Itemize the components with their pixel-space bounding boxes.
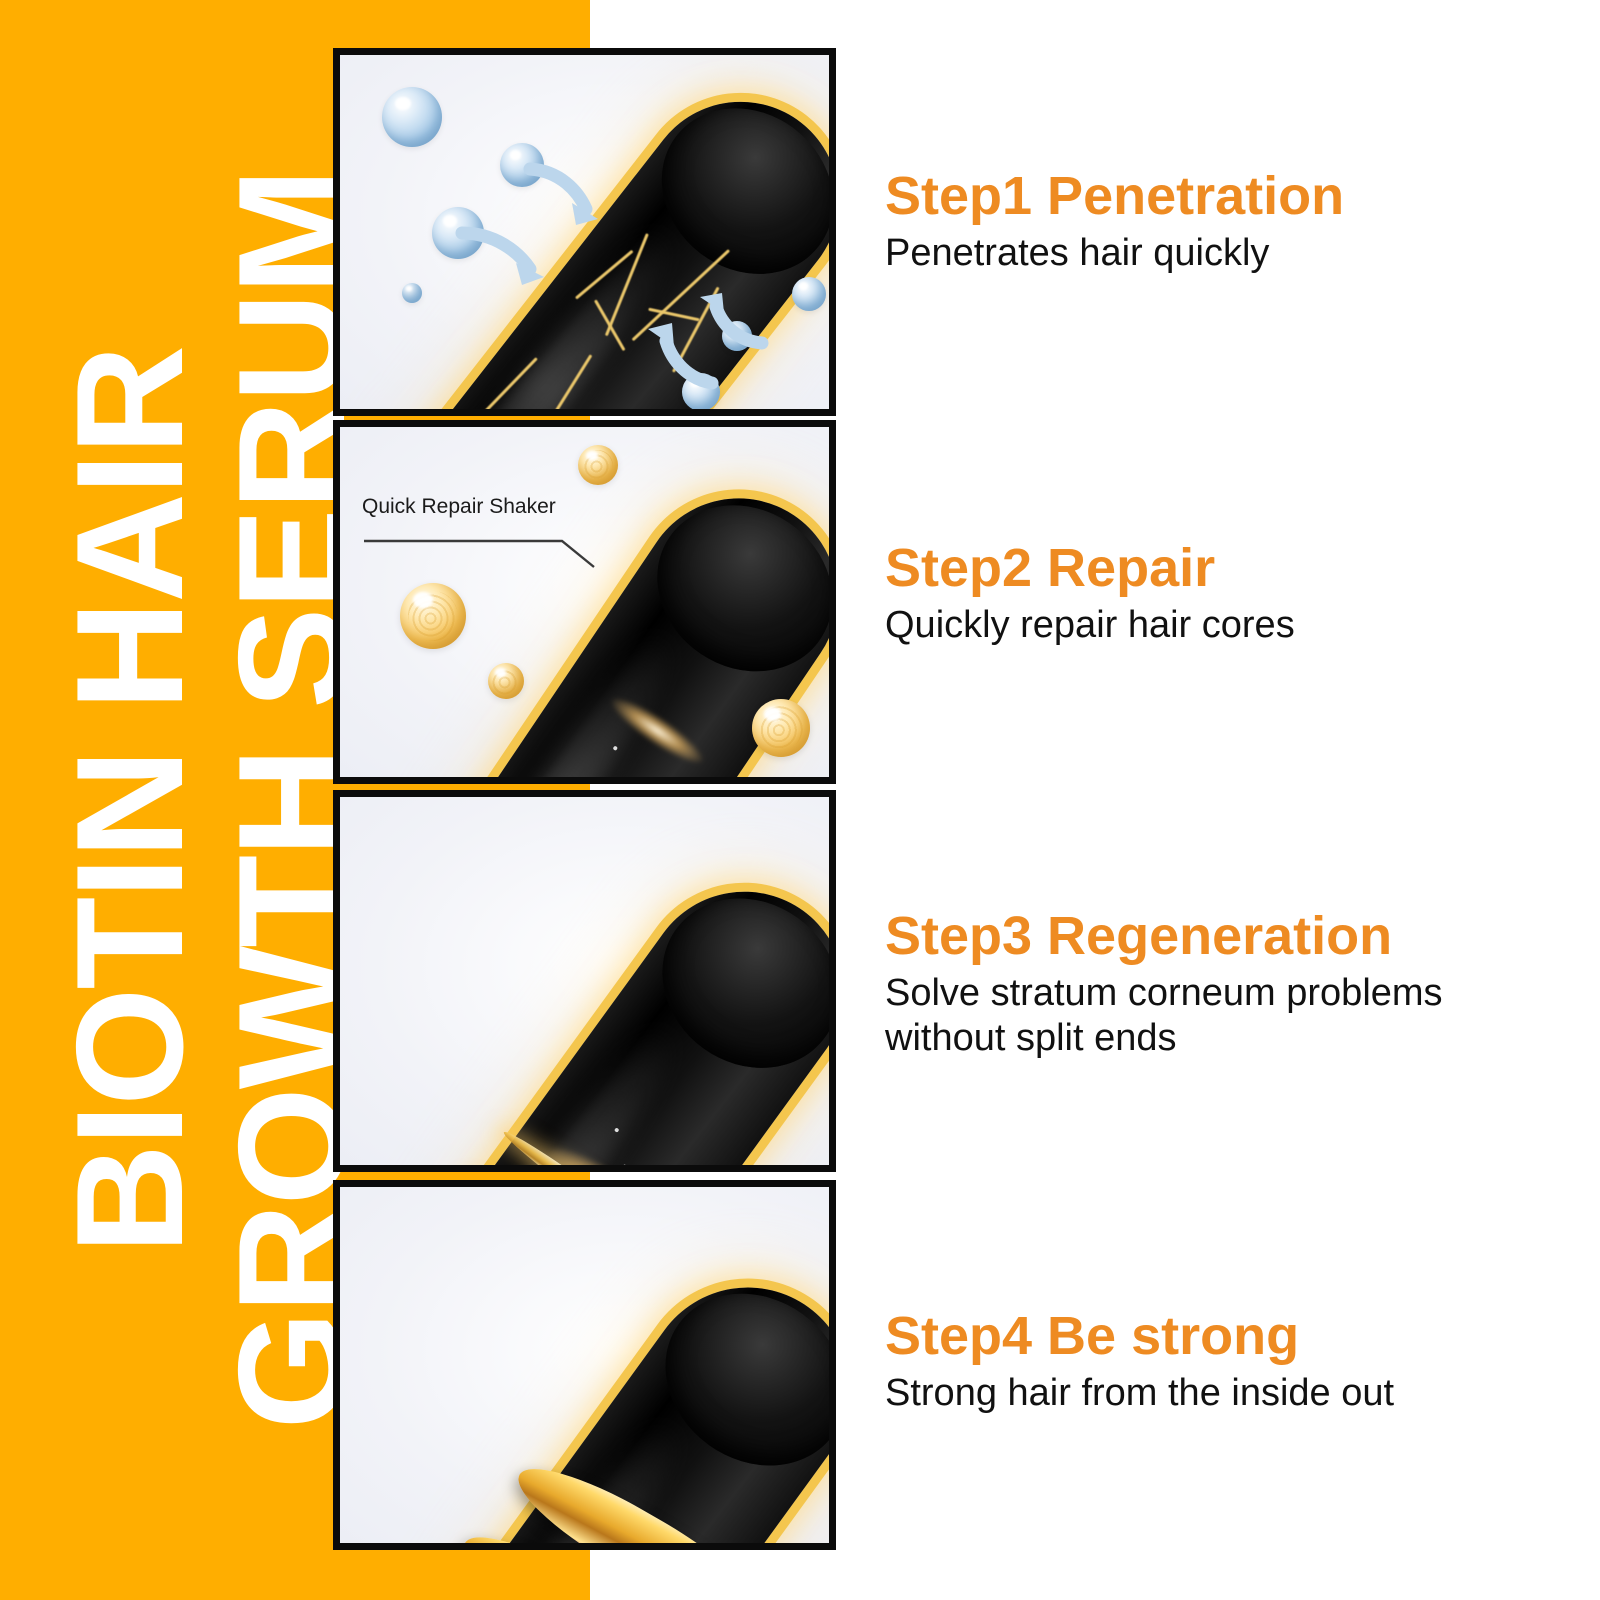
step-text-3: Step3 Regeneration Solve stratum corneum… — [885, 908, 1443, 1061]
infographic-stage: BIOTIN HAIR GROWTH SERUM — [0, 0, 1600, 1600]
hair-strand-icon — [360, 1247, 829, 1543]
step-text-2: Step2 Repair Quickly repair hair cores — [885, 540, 1295, 648]
serum-droplet-icon — [400, 583, 466, 649]
step-3-subtitle: Solve stratum corneum problems without s… — [885, 971, 1443, 1061]
step-panel-4 — [333, 1180, 836, 1550]
serum-droplet-icon — [752, 699, 810, 757]
callout-leader-line-icon — [362, 527, 602, 576]
step-panel-3 — [333, 790, 836, 1172]
step-2-illustration: Quick Repair Shaker — [340, 427, 829, 777]
step-1-illustration — [340, 55, 829, 409]
step-2-title: Step2 Repair — [885, 540, 1295, 597]
step-panel-2: Quick Repair Shaker — [333, 420, 836, 784]
penetration-arrow-icon — [526, 159, 616, 231]
step-4-subtitle: Strong hair from the inside out — [885, 1371, 1394, 1416]
step-3-subtitle-line-2: without split ends — [885, 1016, 1443, 1061]
water-bubble-icon — [792, 277, 826, 311]
serum-droplet-icon — [488, 663, 524, 699]
hair-strand-sheen — [408, 1014, 691, 1165]
step-1-subtitle: Penetrates hair quickly — [885, 231, 1344, 276]
step-4-title: Step4 Be strong — [885, 1308, 1394, 1365]
step-3-subtitle-line-1: Solve stratum corneum problems — [885, 971, 1443, 1016]
step-panel-1 — [333, 48, 836, 416]
hair-strand-icon — [357, 852, 829, 1165]
penetration-arrow-icon — [636, 317, 732, 393]
step-4-illustration — [340, 1187, 829, 1543]
water-bubble-icon — [402, 283, 422, 303]
step-text-4: Step4 Be strong Strong hair from the ins… — [885, 1308, 1394, 1416]
step-3-title: Step3 Regeneration — [885, 908, 1443, 965]
step-3-illustration — [340, 797, 829, 1165]
step-text-1: Step1 Penetration Penetrates hair quickl… — [885, 168, 1344, 276]
water-bubble-icon — [382, 87, 442, 147]
serum-droplet-icon — [578, 445, 618, 485]
step-1-title: Step1 Penetration — [885, 168, 1344, 225]
step-2-subtitle: Quickly repair hair cores — [885, 603, 1295, 648]
penetration-arrow-icon — [458, 225, 558, 293]
hair-strand-sheen — [422, 621, 688, 777]
repair-callout-label: Quick Repair Shaker — [362, 495, 556, 519]
